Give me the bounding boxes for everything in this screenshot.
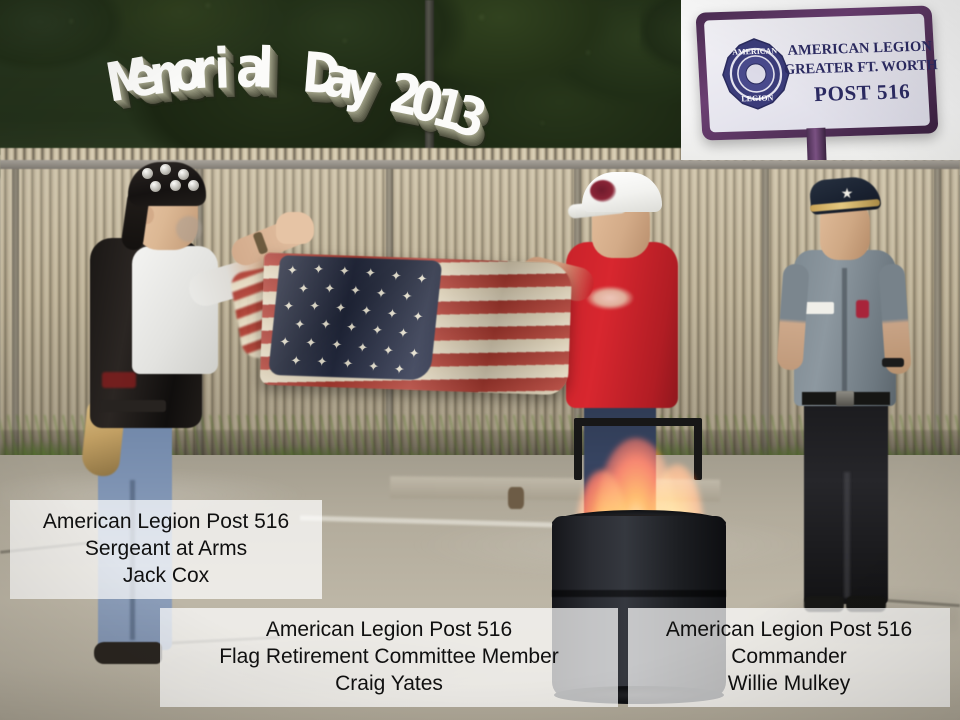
barrel-handle-top bbox=[574, 418, 702, 426]
bandana-stud bbox=[150, 181, 161, 192]
belt bbox=[100, 400, 166, 412]
bandana-stud bbox=[178, 169, 189, 180]
sign-inset: AMERICAN LEGION AMERICAN LEGION GREATER … bbox=[681, 0, 960, 160]
pavement-debris bbox=[508, 487, 524, 509]
bandana-stud bbox=[142, 168, 153, 179]
caption-line-2: Sergeant at Arms bbox=[24, 535, 308, 562]
sign-line-2: GREATER FT. WORTH bbox=[783, 56, 938, 80]
sign-text-block: AMERICAN LEGION GREATER FT. WORTH POST 5… bbox=[799, 26, 924, 120]
memorial-day-photo: ★ ✦ ✦ ✦ ✦ ✦ ✦ ✦ ✦ ✦ ✦ ✦ ✦ ✦ ✦ ✦ ✦ ✦ ✦ ✦ … bbox=[0, 0, 960, 720]
cap-logo bbox=[590, 180, 616, 202]
caption-line-2: Commander bbox=[642, 643, 936, 670]
svg-text:AMERICAN: AMERICAN bbox=[732, 46, 778, 56]
caption-line-1: American Legion Post 516 bbox=[642, 616, 936, 643]
person-willie-mulkey: ★ bbox=[782, 172, 922, 632]
barrel-handle-right bbox=[694, 418, 702, 480]
svg-text:LEGION: LEGION bbox=[741, 93, 774, 103]
white-tshirt bbox=[132, 246, 218, 374]
wristwatch bbox=[882, 358, 904, 367]
shirt-emblem bbox=[856, 300, 869, 318]
name-tag bbox=[804, 302, 834, 314]
sign-board: AMERICAN LEGION AMERICAN LEGION GREATER … bbox=[695, 5, 938, 140]
caption-line-1: American Legion Post 516 bbox=[174, 616, 604, 643]
trouser-seam bbox=[844, 472, 850, 598]
caption-jack-cox: American Legion Post 516 Sergeant at Arm… bbox=[10, 500, 322, 599]
sign-line-3: POST 516 bbox=[813, 78, 911, 108]
flag-fold-shading bbox=[260, 253, 572, 396]
caption-line-3: Jack Cox bbox=[24, 562, 308, 589]
caption-line-3: Willie Mulkey bbox=[642, 670, 936, 697]
vest-patch bbox=[102, 372, 136, 388]
american-flag: ✦ ✦ ✦ ✦ ✦ ✦ ✦ ✦ ✦ ✦ ✦ ✦ ✦ ✦ ✦ ✦ ✦ ✦ ✦ ✦ … bbox=[260, 253, 572, 396]
barrel-band bbox=[552, 590, 726, 597]
hand-holding-flag bbox=[276, 212, 314, 244]
cap-star-icon: ★ bbox=[840, 186, 854, 200]
shoe bbox=[94, 642, 162, 664]
bandana-stud bbox=[170, 180, 181, 191]
caption-craig-yates: American Legion Post 516 Flag Retirement… bbox=[160, 608, 618, 707]
caption-line-1: American Legion Post 516 bbox=[24, 508, 308, 535]
utility-pole bbox=[425, 0, 434, 172]
bandana-stud bbox=[188, 180, 199, 191]
sign-post bbox=[806, 128, 826, 160]
red-tshirt bbox=[566, 242, 678, 408]
shirt-placket bbox=[842, 268, 847, 402]
bandana-stud bbox=[160, 164, 171, 175]
shirt-logo bbox=[586, 286, 634, 310]
barrel-handle-left bbox=[574, 418, 582, 480]
caption-line-3: Craig Yates bbox=[174, 670, 604, 697]
belt-buckle bbox=[836, 391, 854, 406]
caption-line-2: Flag Retirement Committee Member bbox=[174, 643, 604, 670]
caption-willie-mulkey: American Legion Post 516 Commander Willi… bbox=[628, 608, 950, 707]
sign-face: AMERICAN LEGION AMERICAN LEGION GREATER … bbox=[704, 14, 930, 133]
beard bbox=[176, 216, 202, 242]
